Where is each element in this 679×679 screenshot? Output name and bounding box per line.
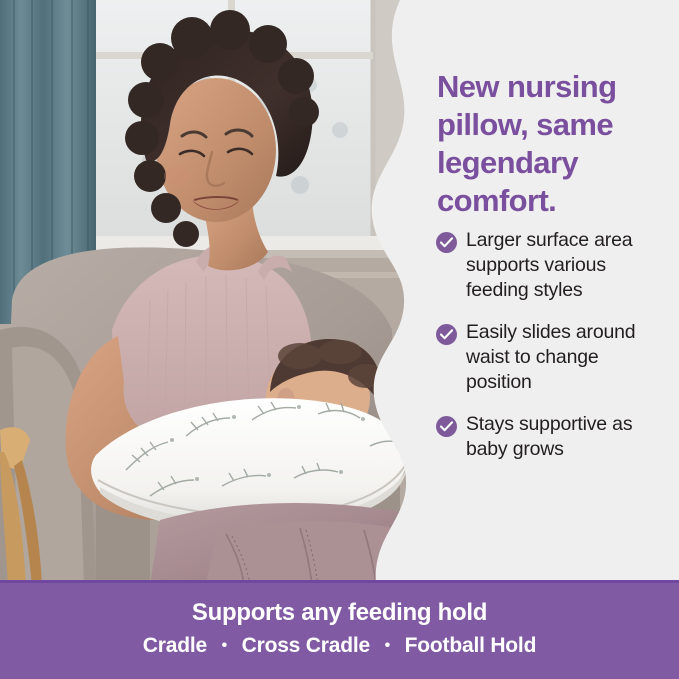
- feature-text: Larger surface area supports various fee…: [466, 228, 662, 303]
- check-circle-icon: [436, 324, 457, 345]
- list-item: Larger surface area supports various fee…: [436, 228, 676, 303]
- feature-list: Larger surface area supports various fee…: [436, 228, 676, 462]
- feature-text: Stays supportive as baby grows: [466, 412, 662, 462]
- separator-dot: •: [385, 637, 390, 654]
- check-circle-icon: [436, 416, 457, 437]
- feature-text: Easily slides around waist to change pos…: [466, 320, 662, 395]
- list-item: Easily slides around waist to change pos…: [436, 320, 676, 395]
- check-circle-icon: [436, 232, 457, 253]
- product-feature-card: New nursing pillow, same legendary comfo…: [0, 0, 679, 679]
- hold-football-hold: Football Hold: [405, 634, 537, 657]
- hold-cross-cradle: Cross Cradle: [242, 634, 370, 657]
- banner-holds-list: Cradle • Cross Cradle • Football Hold: [0, 634, 679, 658]
- banner-title: Supports any feeding hold: [0, 599, 679, 627]
- separator-dot: •: [222, 637, 227, 654]
- lifestyle-photo: [0, 0, 410, 585]
- right-content-panel: New nursing pillow, same legendary comfo…: [425, 0, 679, 585]
- hold-cradle: Cradle: [143, 634, 207, 657]
- page-title: New nursing pillow, same legendary comfo…: [437, 68, 669, 220]
- feeding-hold-banner: Supports any feeding hold Cradle • Cross…: [0, 580, 679, 679]
- list-item: Stays supportive as baby grows: [436, 412, 676, 462]
